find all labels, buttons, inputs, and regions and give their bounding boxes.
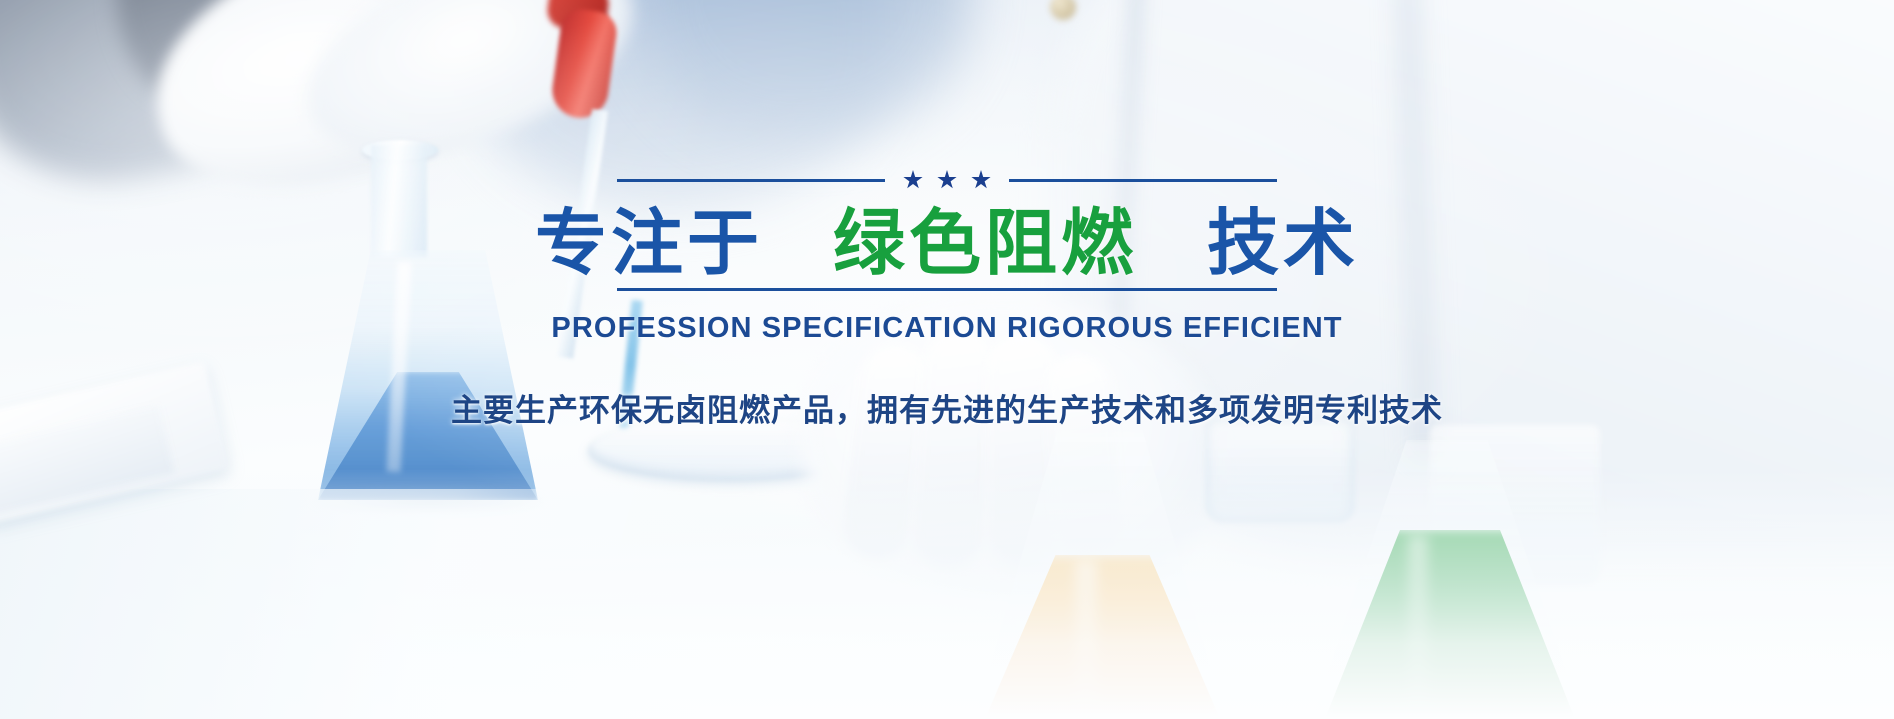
- headline-part-3: 技术: [1207, 204, 1359, 284]
- star-icon: [971, 170, 991, 190]
- subtitle-english: PROFESSION SPECIFICATION RIGOROUS EFFICI…: [551, 312, 1342, 345]
- decorative-divider: [617, 170, 1277, 190]
- star-icon: [903, 170, 923, 190]
- banner-content: 专注于 绿色阻燃 技术 PROFESSION SPECIFICATION RIG…: [0, 0, 1894, 719]
- divider-line-right: [1009, 179, 1277, 182]
- divider-line-left: [617, 179, 885, 182]
- subtitle-chinese: 主要生产环保无卤阻燃产品，拥有先进的生产技术和多项发明专利技术: [451, 385, 1443, 430]
- divider-line-bottom: [617, 288, 1277, 291]
- headline-part-1: 专注于: [535, 204, 763, 284]
- page-title: 专注于 绿色阻燃 技术: [535, 208, 1359, 280]
- hero-banner: 专注于 绿色阻燃 技术 PROFESSION SPECIFICATION RIG…: [0, 0, 1894, 719]
- headline-part-2: 绿色阻燃: [833, 204, 1137, 284]
- star-icon: [937, 170, 957, 190]
- star-group: [899, 170, 995, 190]
